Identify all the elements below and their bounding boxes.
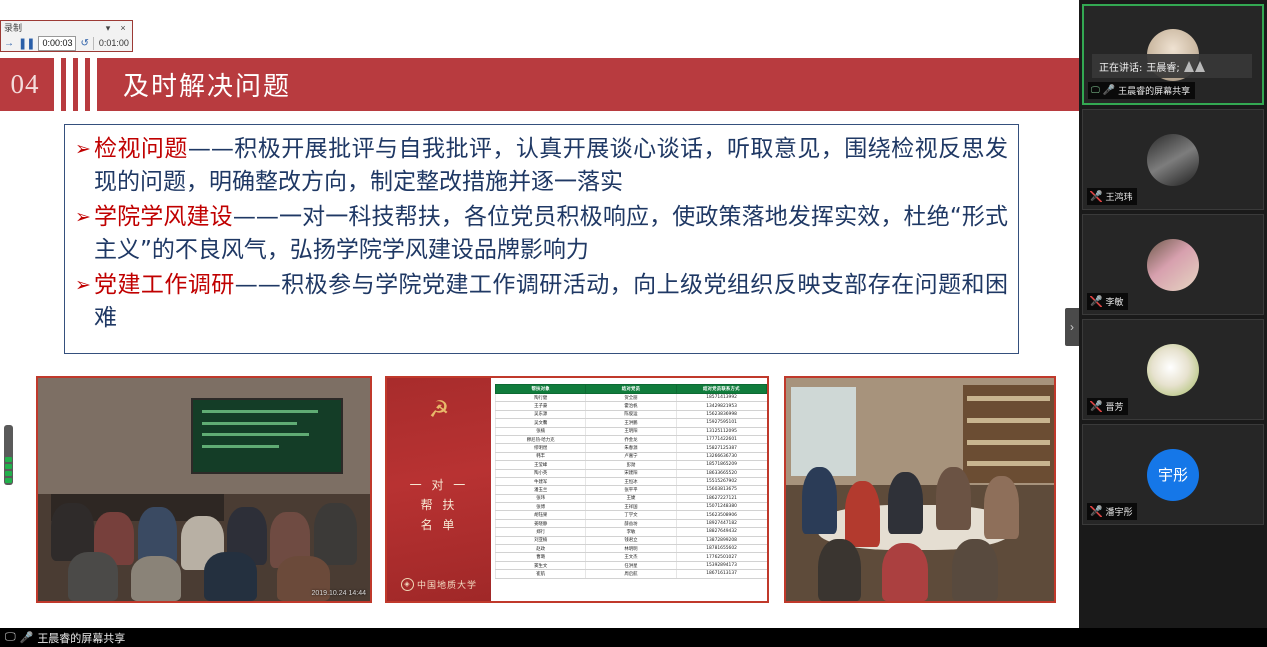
table-row: 陶小英宋建阳18633665520 bbox=[496, 469, 767, 477]
table-cell: 吴文馨 bbox=[496, 419, 586, 427]
table-row: 姜晓静薛益坊18927447182 bbox=[496, 519, 767, 527]
table-cell: 丁学文 bbox=[586, 511, 676, 519]
table-row: 窦生文任洪星15392894173 bbox=[496, 561, 767, 569]
table-body: 陶行健贺全丽18571413992王子豪霍治帆13429821953吴东源陈俊运… bbox=[496, 394, 767, 579]
slide-bullet: ➢ 党建工作调研——积极参与学院党建工作调研活动，向上级党组织反映支部存在问题和… bbox=[75, 269, 1008, 335]
table-cell: 贺全丽 bbox=[586, 394, 676, 402]
recording-toolbar-titlebar: 录制 ▾ × bbox=[1, 21, 132, 35]
table-row: 缪明煜朱春源15827125387 bbox=[496, 444, 767, 452]
sound-wave-icon bbox=[1184, 61, 1205, 72]
table-row: 张楠王明阳13125112095 bbox=[496, 427, 767, 435]
participant-name: 王晨睿的屏幕共享 bbox=[1118, 84, 1190, 97]
screen-share-icon: 🖵 bbox=[1091, 86, 1100, 96]
total-time: 0:01:00 bbox=[93, 37, 129, 50]
next-slide-icon[interactable]: → bbox=[4, 36, 14, 52]
presentation-slide: 04 及时解决问题 ➢ 检视问题——积极开展批评与自我批评，认真开展谈心谈话，听… bbox=[0, 54, 1079, 628]
table-header-cell: 结对党员 bbox=[586, 385, 676, 394]
slide-text-box: ➢ 检视问题——积极开展批评与自我批评，认真开展谈心谈话，听取意见，围绕检视反思… bbox=[64, 124, 1019, 354]
microphone-muted-icon: 🎤 bbox=[1090, 506, 1102, 517]
table-row: 王莹峰彭勋18571865209 bbox=[496, 461, 767, 469]
participant-name: 潘宇彤 bbox=[1105, 505, 1132, 518]
microphone-icon: 🎤 bbox=[1103, 85, 1115, 96]
table-cell: 13125112095 bbox=[676, 427, 766, 435]
screen-share-icon: 🖵 bbox=[5, 631, 16, 644]
table-cell: 李敏 bbox=[586, 528, 676, 536]
table-cell: 潘玉兰 bbox=[496, 486, 586, 494]
bullet-body: ——积极开展批评与自我批评，认真开展谈心谈话，听取意见，围绕检视反思发现的问题，… bbox=[94, 136, 1008, 195]
microphone-level-meter bbox=[4, 425, 13, 485]
table-cell: 林明明 bbox=[586, 545, 676, 553]
table-cell: 18927447182 bbox=[676, 519, 766, 527]
participant-tile[interactable]: 🎤王鸿玮 bbox=[1082, 109, 1264, 210]
bullet-text: 检视问题——积极开展批评与自我批评，认真开展谈心谈话，听取意见，围绕检视反思发现… bbox=[94, 133, 1008, 199]
table-cell: 陶行健 bbox=[496, 394, 586, 402]
table-header-cell: 帮扶对象 bbox=[496, 385, 586, 394]
zoom-meeting-window: 录制 ▾ × → ❚❚ 0:00:03 ↺ 0:01:00 04 及时解决问题 bbox=[0, 0, 1267, 647]
recording-toolbar-title: 录制 bbox=[4, 21, 99, 35]
caption-line: 一 对 一 bbox=[410, 475, 469, 495]
microphone-muted-icon: 🎤 bbox=[1090, 296, 1102, 307]
table-row: 陶行健贺全丽18571413992 bbox=[496, 394, 767, 402]
slide-header: 04 及时解决问题 bbox=[0, 58, 1079, 111]
table-cell: 13872899208 bbox=[676, 536, 766, 544]
bullet-arrow-icon: ➢ bbox=[75, 133, 94, 199]
table-cell: 胡钰果 bbox=[496, 511, 586, 519]
table-cell: 张博 bbox=[496, 503, 586, 511]
participant-name-badge: 🎤李敏 bbox=[1087, 293, 1128, 310]
table-cell: 王恒冰 bbox=[586, 477, 676, 485]
table-cell: 15071248380 bbox=[676, 503, 766, 511]
table-cell: 任洪星 bbox=[586, 561, 676, 569]
table-cell: 王明阳 bbox=[586, 427, 676, 435]
elapsed-time: 0:00:03 bbox=[38, 36, 76, 51]
slide-top-margin bbox=[0, 0, 1079, 54]
recording-toolbar[interactable]: 录制 ▾ × → ❚❚ 0:00:03 ↺ 0:01:00 bbox=[0, 20, 133, 52]
table-cell: 崔航 bbox=[496, 570, 586, 578]
table-cell: 霍治帆 bbox=[586, 402, 676, 410]
speaking-indicator: 正在讲话: 王晨睿; bbox=[1092, 54, 1252, 78]
table-cell: 18827649432 bbox=[676, 528, 766, 536]
table-cell: 18571413992 bbox=[676, 394, 766, 402]
table-cell: 韩丰 bbox=[496, 452, 586, 460]
table-row: 王子豪霍治帆13429821953 bbox=[496, 402, 767, 410]
table-cell: 王婕 bbox=[586, 494, 676, 502]
pairing-banner-caption: 一 对 一 帮 扶 名 单 bbox=[410, 475, 469, 535]
table-cell: 曹璐 bbox=[496, 553, 586, 561]
table-header-row: 帮扶对象结对党员结对党员联系方式 bbox=[496, 385, 767, 394]
caption-line: 帮 扶 bbox=[410, 495, 469, 515]
bullet-lead: 学院学风建设 bbox=[94, 204, 233, 230]
participant-video-panel: 🖵🎤王晨睿的屏幕共享🎤王鸿玮🎤李敏🎤晋芳宇彤🎤潘宇彤 bbox=[1079, 0, 1267, 628]
university-name: 中国地质大学 bbox=[417, 578, 477, 591]
table-cell: 张楠 bbox=[496, 427, 586, 435]
table-cell: 18571865209 bbox=[676, 461, 766, 469]
slide-bullet: ➢ 学院学风建设——一对一科技帮扶，各位党员积极响应，使政策落地发挥实效，杜绝“… bbox=[75, 201, 1008, 267]
participant-name-badge: 🎤晋芳 bbox=[1087, 398, 1128, 415]
avatar: 宇彤 bbox=[1147, 449, 1199, 501]
pairing-table-wrapper: 帮扶对象结对党员结对党员联系方式 陶行健贺全丽18571413992王子豪霍治帆… bbox=[495, 384, 767, 599]
pairing-banner: ☭ 一 对 一 帮 扶 名 单 ◈ 中国地质大学 bbox=[387, 378, 491, 601]
table-row: 牛建军王恒冰15515267902 bbox=[496, 477, 767, 485]
participant-name: 李敏 bbox=[1105, 295, 1123, 308]
table-cell: 王祥国 bbox=[586, 503, 676, 511]
table-row: 曹璐王文杰17762501027 bbox=[496, 553, 767, 561]
table-row: 赵政林明明18781655602 bbox=[496, 545, 767, 553]
avatar-initials: 宇彤 bbox=[1158, 464, 1188, 485]
slide-title: 及时解决问题 bbox=[123, 66, 291, 103]
table-cell: 穆尼热·哈力克 bbox=[496, 435, 586, 443]
table-row: 吴文馨王洪鹏15927595101 bbox=[496, 419, 767, 427]
bullet-arrow-icon: ➢ bbox=[75, 201, 94, 267]
table-cell: 13429821953 bbox=[676, 402, 766, 410]
photo-pairing-list-table: ☭ 一 对 一 帮 扶 名 单 ◈ 中国地质大学 帮扶对象 bbox=[385, 376, 769, 603]
table-cell: 薛益坊 bbox=[586, 519, 676, 527]
minimize-icon[interactable]: ▾ bbox=[102, 21, 114, 35]
table-row: 潘玉兰张平平15603813675 bbox=[496, 486, 767, 494]
table-cell: 窦生文 bbox=[496, 561, 586, 569]
status-bar-text: 王晨睿的屏幕共享 bbox=[37, 630, 125, 646]
participant-name: 晋芳 bbox=[1105, 400, 1123, 413]
table-cell: 彭勋 bbox=[586, 461, 676, 469]
table-cell: 15392894173 bbox=[676, 561, 766, 569]
table-cell: 乔金龙 bbox=[586, 435, 676, 443]
avatar bbox=[1147, 344, 1199, 396]
bullet-text: 学院学风建设——一对一科技帮扶，各位党员积极响应，使政策落地发挥实效，杜绝“形式… bbox=[94, 201, 1008, 267]
table-row: 胡钰果丁学文15623508906 bbox=[496, 511, 767, 519]
table-row: 韩丰卢嘉宁13266636730 bbox=[496, 452, 767, 460]
close-icon[interactable]: × bbox=[117, 21, 129, 35]
table-cell: 姜晓静 bbox=[496, 519, 586, 527]
table-cell: 郑行 bbox=[496, 528, 586, 536]
table-cell: 18781655602 bbox=[676, 545, 766, 553]
table-cell: 17771422601 bbox=[676, 435, 766, 443]
table-cell: 15927595101 bbox=[676, 419, 766, 427]
table-cell: 朱春源 bbox=[586, 444, 676, 452]
university-logo: ◈ 中国地质大学 bbox=[387, 578, 491, 591]
photo-timestamp: 2019.10.24 14:44 bbox=[312, 590, 367, 597]
table-row: 张博王祥国15071248380 bbox=[496, 503, 767, 511]
table-row: 张玮王婕18627227121 bbox=[496, 494, 767, 502]
table-cell: 周启航 bbox=[586, 570, 676, 578]
table-header-cell: 结对党员联系方式 bbox=[676, 385, 766, 394]
table-row: 吴东源陈俊运15623836998 bbox=[496, 410, 767, 418]
table-cell: 18633665520 bbox=[676, 469, 766, 477]
table-cell: 赵政 bbox=[496, 545, 586, 553]
recording-controls: → ❚❚ 0:00:03 ↺ 0:01:00 bbox=[1, 35, 132, 52]
table-cell: 刘亚楠 bbox=[496, 536, 586, 544]
table-cell: 王子豪 bbox=[496, 402, 586, 410]
microphone-muted-icon: 🎤 bbox=[1090, 401, 1102, 412]
table-cell: 15827125387 bbox=[676, 444, 766, 452]
pairing-table: 帮扶对象结对党员结对党员联系方式 陶行健贺全丽18571413992王子豪霍治帆… bbox=[495, 384, 767, 579]
table-cell: 17762501027 bbox=[676, 553, 766, 561]
table-row: 穆尼热·哈力克乔金龙17771422601 bbox=[496, 435, 767, 443]
avatar bbox=[1147, 134, 1199, 186]
status-bar: 🖵 🎤 王晨睿的屏幕共享 bbox=[0, 628, 1267, 647]
shared-screen-area: 录制 ▾ × → ❚❚ 0:00:03 ↺ 0:01:00 04 及时解决问题 bbox=[0, 0, 1079, 628]
table-row: 崔航周启航18671613137 bbox=[496, 570, 767, 578]
table-cell: 吴东源 bbox=[496, 410, 586, 418]
table-cell: 18671613137 bbox=[676, 570, 766, 578]
table-cell: 王洪鹏 bbox=[586, 419, 676, 427]
table-cell: 王文杰 bbox=[586, 553, 676, 561]
pause-icon[interactable]: ❚❚ bbox=[18, 37, 34, 50]
bullet-lead: 检视问题 bbox=[94, 136, 188, 162]
university-logo-mark: ◈ bbox=[401, 578, 414, 591]
speaking-name: 王晨睿; bbox=[1146, 59, 1179, 74]
collapse-panel-button[interactable]: › bbox=[1065, 308, 1079, 346]
table-cell: 陶小英 bbox=[496, 469, 586, 477]
slide-number: 04 bbox=[0, 69, 50, 100]
table-cell: 卢嘉宁 bbox=[586, 452, 676, 460]
participant-name-badge: 🎤潘宇彤 bbox=[1087, 503, 1137, 520]
participant-tile[interactable]: 宇彤🎤潘宇彤 bbox=[1082, 424, 1264, 525]
table-cell: 张平平 bbox=[586, 486, 676, 494]
table-cell: 钱君立 bbox=[586, 536, 676, 544]
photo-classroom-meeting: 2019.10.24 14:44 bbox=[36, 376, 372, 603]
caption-line: 名 单 bbox=[410, 515, 469, 535]
participant-name-badge: 🎤王鸿玮 bbox=[1087, 188, 1137, 205]
table-cell: 陈俊运 bbox=[586, 410, 676, 418]
table-cell: 牛建军 bbox=[496, 477, 586, 485]
microphone-muted-icon: 🎤 bbox=[1090, 191, 1102, 202]
table-row: 郑行李敏18827649432 bbox=[496, 528, 767, 536]
slide-bullet: ➢ 检视问题——积极开展批评与自我批评，认真开展谈心谈话，听取意见，围绕检视反思… bbox=[75, 133, 1008, 199]
party-emblem-icon: ☭ bbox=[429, 396, 450, 423]
table-cell: 15603813675 bbox=[676, 486, 766, 494]
bullet-arrow-icon: ➢ bbox=[75, 269, 94, 335]
table-cell: 宋建阳 bbox=[586, 469, 676, 477]
participant-tile[interactable]: 🎤晋芳 bbox=[1082, 319, 1264, 420]
table-row: 刘亚楠钱君立13872899208 bbox=[496, 536, 767, 544]
redo-icon[interactable]: ↺ bbox=[80, 36, 88, 52]
photo-conference-room bbox=[784, 376, 1056, 603]
participant-name: 王鸿玮 bbox=[1105, 190, 1132, 203]
table-cell: 13266636730 bbox=[676, 452, 766, 460]
table-cell: 18627227121 bbox=[676, 494, 766, 502]
table-cell: 15515267902 bbox=[676, 477, 766, 485]
table-cell: 缪明煜 bbox=[496, 444, 586, 452]
participant-name-badge: 🖵🎤王晨睿的屏幕共享 bbox=[1088, 82, 1195, 99]
table-cell: 张玮 bbox=[496, 494, 586, 502]
bullet-text: 党建工作调研——积极参与学院党建工作调研活动，向上级党组织反映支部存在问题和困难 bbox=[94, 269, 1008, 335]
table-cell: 15623508906 bbox=[676, 511, 766, 519]
table-cell: 王莹峰 bbox=[496, 461, 586, 469]
participant-tile[interactable]: 🎤李敏 bbox=[1082, 214, 1264, 315]
avatar bbox=[1147, 239, 1199, 291]
microphone-icon: 🎤 bbox=[20, 631, 34, 644]
bullet-lead: 党建工作调研 bbox=[94, 272, 235, 298]
speaking-label: 正在讲话: bbox=[1099, 59, 1142, 74]
slide-decor-bars bbox=[54, 58, 97, 111]
table-cell: 15623836998 bbox=[676, 410, 766, 418]
slide-photo-strip: 2019.10.24 14:44 ☭ 一 对 一 帮 扶 名 单 ◈ 中国地质大… bbox=[36, 376, 1056, 603]
